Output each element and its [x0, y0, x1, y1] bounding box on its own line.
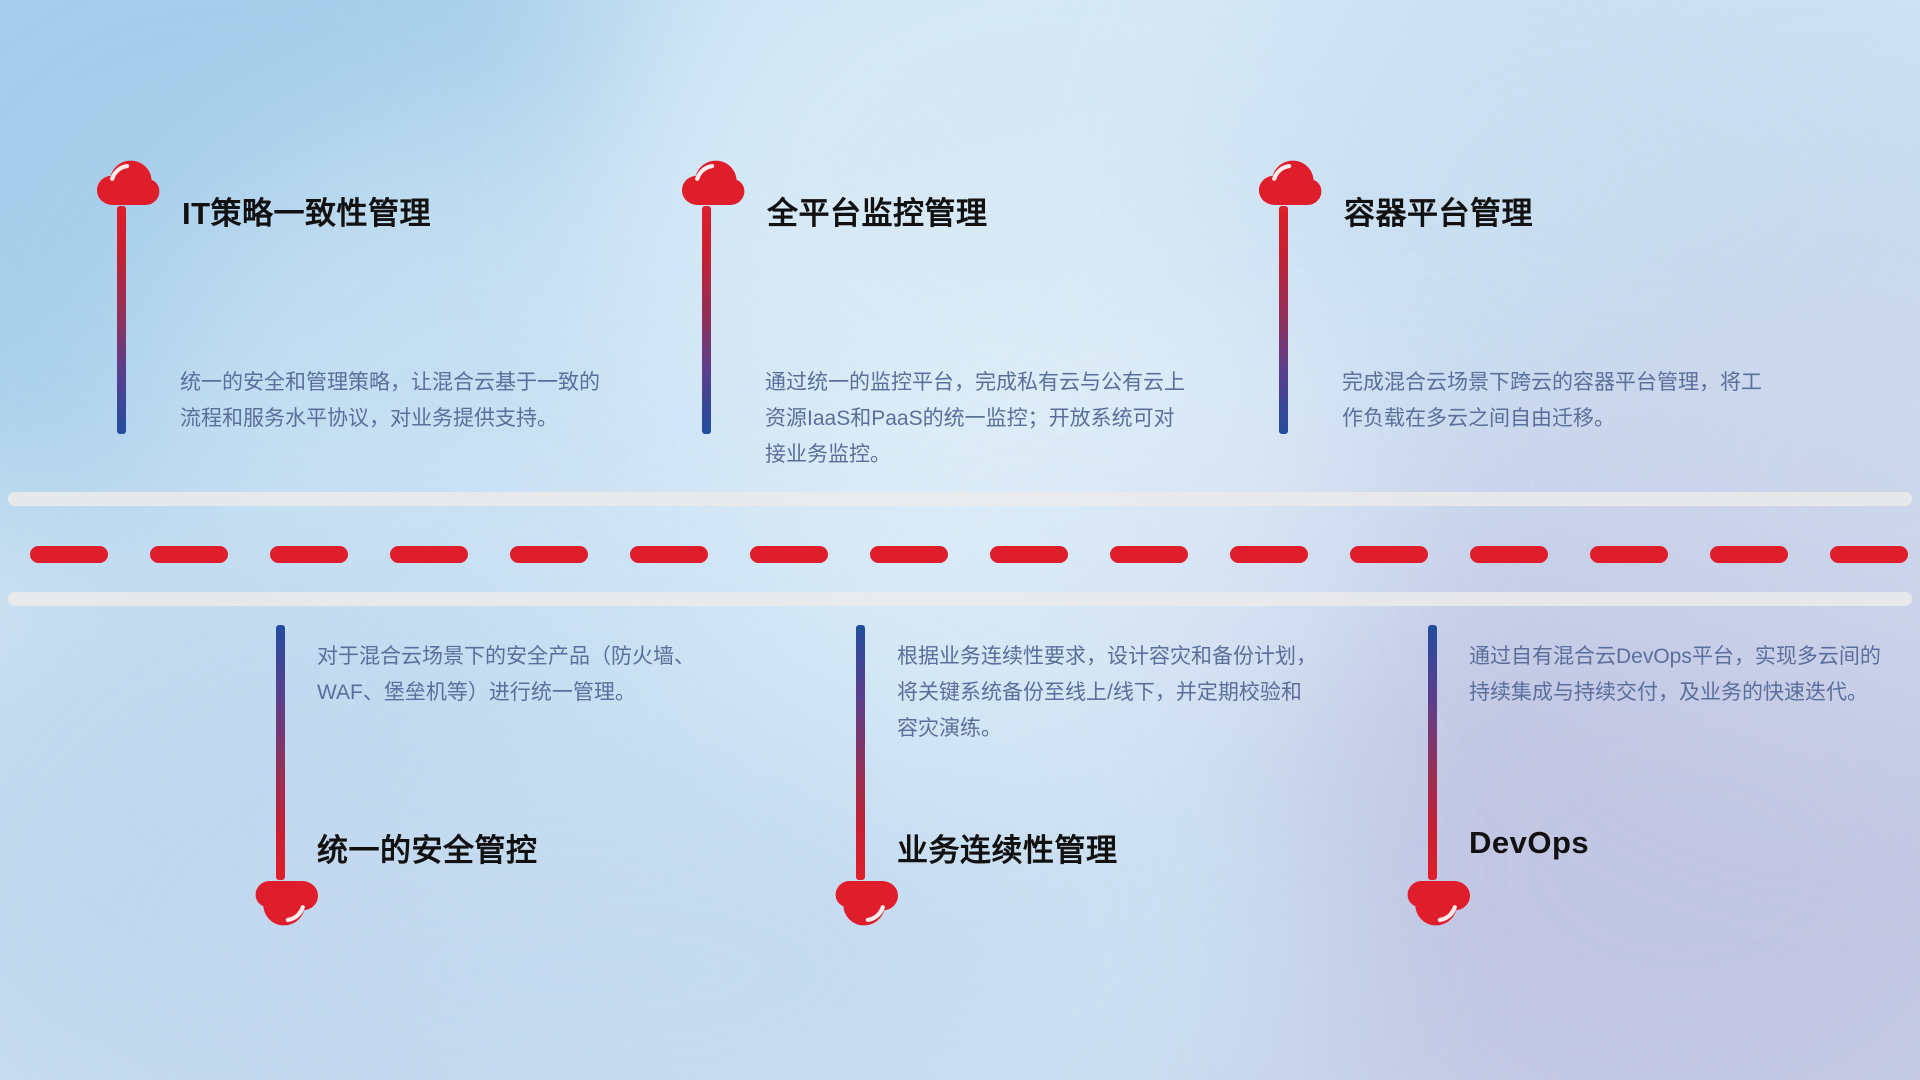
card-title: 业务连续性管理 — [897, 825, 1118, 870]
road-band-bottom — [8, 592, 1912, 606]
marker-bottom-3 — [1407, 625, 1471, 926]
cloud-icon — [681, 160, 745, 206]
card-body: 完成混合云场景下跨云的容器平台管理，将工作负载在多云之间自由迁移。 — [1342, 365, 1762, 437]
marker-bottom-2 — [835, 625, 899, 926]
road-dash — [1470, 546, 1548, 563]
road-dashed-centerline — [0, 545, 1920, 563]
card-body: 根据业务连续性要求，设计容灾和备份计划，将关键系统备份至线上/线下，并定期校验和… — [897, 639, 1317, 747]
road-dash — [30, 546, 108, 563]
road-dash — [150, 546, 228, 563]
card-title: 全平台监控管理 — [767, 188, 988, 233]
road-dash — [510, 546, 588, 563]
cloud-icon — [255, 880, 319, 926]
marker-bottom-1 — [255, 625, 319, 926]
cloud-icon — [835, 880, 899, 926]
marker-top-1 — [96, 160, 160, 434]
marker-stem — [1428, 625, 1437, 880]
road-dash — [1230, 546, 1308, 563]
marker-stem — [856, 625, 865, 880]
marker-stem — [702, 206, 711, 434]
marker-stem — [276, 625, 285, 880]
cloud-icon — [96, 160, 160, 206]
road-dash — [1110, 546, 1188, 563]
road-dash — [1590, 546, 1668, 563]
road-dash — [990, 546, 1068, 563]
card-body: 统一的安全和管理策略，让混合云基于一致的流程和服务水平协议，对业务提供支持。 — [180, 365, 600, 437]
road-band-top — [8, 492, 1912, 506]
marker-stem — [1279, 206, 1288, 434]
card-body: 通过统一的监控平台，完成私有云与公有云上资源IaaS和PaaS的统一监控；开放系… — [765, 365, 1185, 473]
card-body: 通过自有混合云DevOps平台，实现多云间的持续集成与持续交付，及业务的快速迭代… — [1469, 639, 1889, 711]
card-title: IT策略一致性管理 — [182, 188, 431, 233]
road-dash — [870, 546, 948, 563]
background-blob — [0, 560, 700, 1080]
card-title: 统一的安全管控 — [317, 825, 538, 870]
road-dash — [390, 546, 468, 563]
cloud-icon — [1258, 160, 1322, 206]
road-dash — [1830, 546, 1908, 563]
infographic-canvas: IT策略一致性管理 统一的安全和管理策略，让混合云基于一致的流程和服务水平协议，… — [0, 0, 1920, 1080]
road-dash — [270, 546, 348, 563]
road-dash — [750, 546, 828, 563]
card-title: 容器平台管理 — [1344, 188, 1533, 233]
marker-top-2 — [681, 160, 745, 434]
card-body: 对于混合云场景下的安全产品（防火墙、WAF、堡垒机等）进行统一管理。 — [317, 639, 737, 711]
marker-stem — [117, 206, 126, 434]
background-blob — [1300, 560, 1920, 1080]
marker-top-3 — [1258, 160, 1322, 434]
road-dash — [630, 546, 708, 563]
road-dash — [1350, 546, 1428, 563]
road-dash — [1710, 546, 1788, 563]
cloud-icon — [1407, 880, 1471, 926]
card-title: DevOps — [1469, 825, 1589, 861]
